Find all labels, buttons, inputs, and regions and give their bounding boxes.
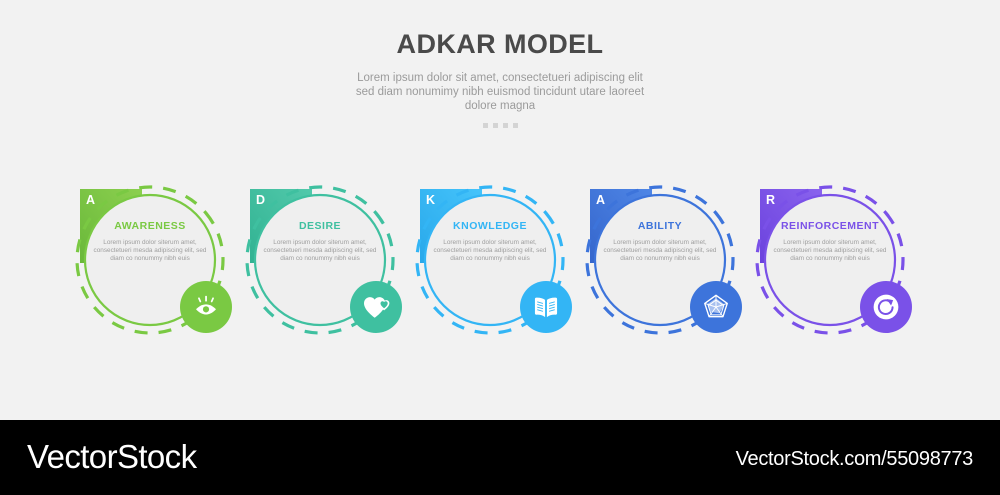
watermark-footer: VectorStock VectorStock.com/55098773 [0, 420, 1000, 495]
card-text-block: REINFORCEMENTLorem ipsum dolor siterum a… [770, 221, 890, 263]
card-title: REINFORCEMENT [770, 221, 890, 232]
eye-icon-badge[interactable] [180, 281, 232, 333]
page-title: ADKAR MODEL [0, 31, 1000, 58]
page-subtitle: Lorem ipsum dolor sit amet, consectetuer… [350, 71, 650, 113]
card-title: ABILITY [600, 221, 720, 232]
card-text-block: KNOWLEDGELorem ipsum dolor siterum amet,… [430, 221, 550, 263]
decorative-dot [503, 123, 508, 128]
card-letter-badge: D [256, 194, 265, 207]
decorative-dot [483, 123, 488, 128]
adkar-card[interactable]: AAWARENESSLorem ipsum dolor siterum amet… [72, 183, 252, 338]
card-text-block: DESIRELorem ipsum dolor siterum amet, co… [260, 221, 380, 263]
card-title: AWARENESS [90, 221, 210, 232]
card-body-text: Lorem ipsum dolor siterum amet, consecte… [770, 239, 890, 264]
adkar-card[interactable]: AABILITYLorem ipsum dolor siterum amet, … [582, 183, 762, 338]
pentagon-chart-icon-badge[interactable] [690, 281, 742, 333]
heart-icon [361, 292, 391, 322]
decorative-dot [493, 123, 498, 128]
card-body-text: Lorem ipsum dolor siterum amet, consecte… [430, 239, 550, 264]
vectorstock-logo: VectorStock [27, 438, 197, 476]
pentagon-chart-icon [701, 292, 731, 322]
card-text-block: AWARENESSLorem ipsum dolor siterum amet,… [90, 221, 210, 263]
eye-icon [191, 292, 221, 322]
adkar-card[interactable]: KKNOWLEDGELorem ipsum dolor siterum amet… [412, 183, 592, 338]
vectorstock-url: VectorStock.com/55098773 [736, 448, 973, 471]
adkar-card[interactable]: RREINFORCEMENTLorem ipsum dolor siterum … [752, 183, 932, 338]
book-icon [531, 292, 561, 322]
header: ADKAR MODEL Lorem ipsum dolor sit amet, … [0, 0, 1000, 128]
decorative-dot [513, 123, 518, 128]
card-body-text: Lorem ipsum dolor siterum amet, consecte… [90, 239, 210, 264]
card-body-text: Lorem ipsum dolor siterum amet, consecte… [260, 239, 380, 264]
card-letter-badge: K [426, 194, 435, 207]
refresh-icon [871, 292, 901, 322]
book-icon-badge[interactable] [520, 281, 572, 333]
card-letter-badge: A [596, 194, 605, 207]
heart-icon-badge[interactable] [350, 281, 402, 333]
card-title: KNOWLEDGE [430, 221, 550, 232]
refresh-icon-badge[interactable] [860, 281, 912, 333]
adkar-cards-row: AAWARENESSLorem ipsum dolor siterum amet… [0, 183, 1000, 338]
card-body-text: Lorem ipsum dolor siterum amet, consecte… [600, 239, 720, 264]
card-text-block: ABILITYLorem ipsum dolor siterum amet, c… [600, 221, 720, 263]
adkar-card[interactable]: DDESIRELorem ipsum dolor siterum amet, c… [242, 183, 422, 338]
card-title: DESIRE [260, 221, 380, 232]
card-letter-badge: R [766, 194, 775, 207]
card-letter-badge: A [86, 194, 95, 207]
decorative-dots [0, 123, 1000, 128]
